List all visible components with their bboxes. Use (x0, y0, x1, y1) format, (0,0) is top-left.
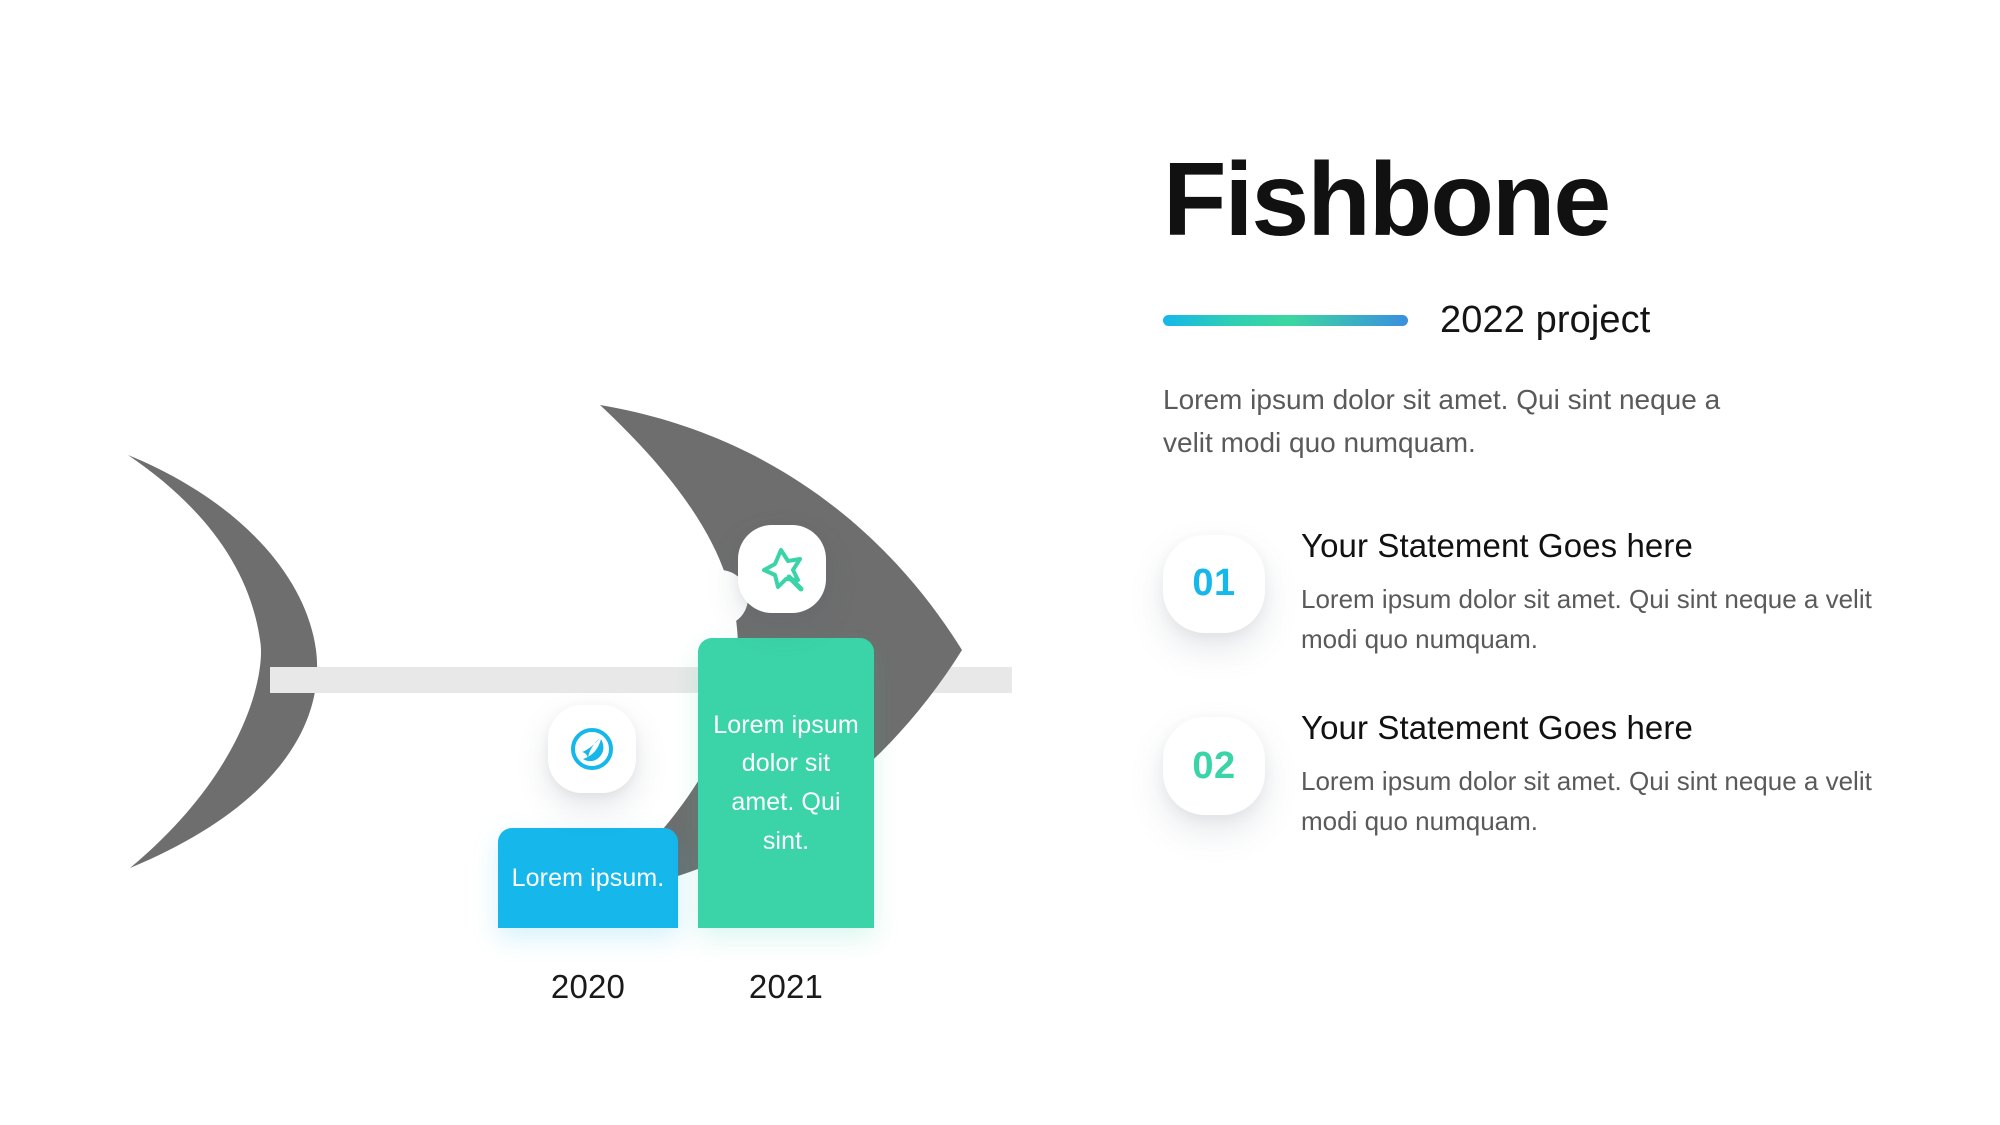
statement-description-01: Lorem ipsum dolor sit amet. Qui sint neq… (1301, 580, 1881, 659)
bar-2021[interactable]: Lorem ipsum dolor sit amet. Qui sint. (698, 638, 874, 928)
statement-description-02: Lorem ipsum dolor sit amet. Qui sint neq… (1301, 762, 1881, 841)
statement-body-02: Your Statement Goes here Lorem ipsum dol… (1301, 707, 1881, 841)
statement-heading-01: Your Statement Goes here (1301, 525, 1881, 566)
bar-2020[interactable]: Lorem ipsum. (498, 828, 678, 928)
content-panel: Fishbone 2022 project Lorem ipsum dolor … (1163, 148, 1963, 889)
statement-heading-02: Your Statement Goes here (1301, 707, 1881, 748)
fish-shapes (120, 250, 1150, 870)
slide-canvas: Lorem ipsum. Lorem ipsum dolor sit amet.… (0, 0, 2000, 1125)
icon-badge-2021[interactable] (738, 525, 826, 613)
subtitle-row: 2022 project (1163, 300, 1963, 340)
bar-2021-label: Lorem ipsum dolor sit amet. Qui sint. (708, 706, 864, 861)
icon-badge-2020[interactable] (548, 705, 636, 793)
intro-paragraph: Lorem ipsum dolor sit amet. Qui sint neq… (1163, 378, 1763, 465)
statement-list: 01 Your Statement Goes here Lorem ipsum … (1163, 525, 1963, 842)
fishbone-diagram: Lorem ipsum. Lorem ipsum dolor sit amet.… (120, 250, 1150, 870)
moon-circle-icon (567, 724, 617, 774)
statement-body-01: Your Statement Goes here Lorem ipsum dol… (1301, 525, 1881, 659)
statement-item-01[interactable]: 01 Your Statement Goes here Lorem ipsum … (1163, 525, 1963, 659)
bar-2020-label: Lorem ipsum. (512, 859, 665, 898)
subtitle-text: 2022 project (1440, 299, 1650, 342)
statement-number-badge-01: 01 (1163, 535, 1265, 633)
accent-gradient-bar (1163, 315, 1408, 326)
year-label-2020: 2020 (498, 968, 678, 1006)
statement-item-02[interactable]: 02 Your Statement Goes here Lorem ipsum … (1163, 707, 1963, 841)
magic-wand-star-icon (757, 544, 807, 594)
statement-number-badge-02: 02 (1163, 717, 1265, 815)
page-title: Fishbone (1163, 148, 1963, 252)
year-label-2021: 2021 (698, 968, 874, 1006)
fish-tail (128, 455, 317, 868)
